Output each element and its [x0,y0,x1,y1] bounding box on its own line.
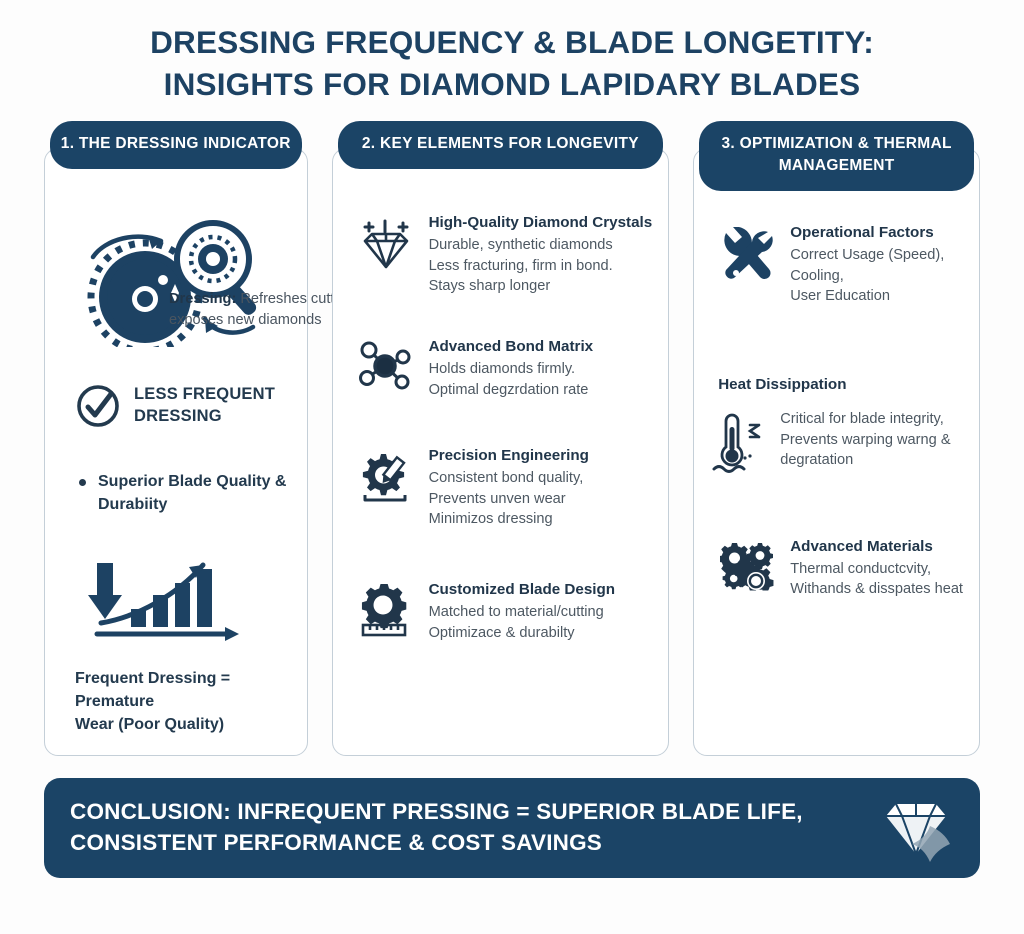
wear-chart-block [61,547,291,645]
thermometer-heat-icon [710,413,768,475]
item-icon-wrap [359,446,415,506]
item-line: Critical for blade integrity, [780,409,963,430]
item-body: Advanced Bond Matrix Holds diamonds firm… [429,337,653,400]
item-icon-wrap [710,409,766,475]
item-title: Heat Dissippation [718,375,963,395]
item-icon-wrap [359,213,415,271]
item-title: Operational Factors [790,223,963,243]
diamond-sparkle-icon [359,217,413,271]
item-line: Withands & disspates heat [790,579,963,600]
item-line: Durable, synthetic diamonds [429,235,653,256]
diamond-gem-icon [878,792,954,864]
columns-container: 1. THE DRESSING INDICATOR [0,115,1024,756]
conclusion-line-2: CONSISTENT PERFORMANCE & COST SAVINGS [70,830,602,855]
check-circle-icon [75,383,121,429]
item-line: Optimal degzrdation rate [429,380,653,401]
molecule-bond-icon [359,341,413,391]
list-item: Precision Engineering Consistent bond qu… [349,446,653,530]
conclusion-line-1: CONCLUSION: INFREQUENT PRESSING = SUPERI… [70,799,803,824]
column-2-card: High-Quality Diamond Crystals Durable, s… [332,148,670,756]
item-line: Thermal conductcvity, [790,559,963,580]
item-body: Advanced Materials Thermal conductcvity,… [790,537,963,600]
item-icon-wrap [359,337,415,391]
less-frequent-dressing-row: LESS FREQUENT DRESSING [61,383,291,429]
column-1: 1. THE DRESSING INDICATOR [44,121,308,756]
item-icon-wrap [359,580,415,640]
gears-cluster-icon [720,541,778,597]
item-line: Matched to material/cutting [429,602,653,623]
item-body: Precision Engineering Consistent bond qu… [429,446,653,530]
check-label-line2: DRESSING [134,407,222,425]
item-line: Holds diamonds firmly. [429,359,653,380]
item-title: Precision Engineering [429,446,653,466]
title-line-1: DRESSING FREQUENCY & BLADE LONGETITY: [60,22,964,64]
infographic-page: DRESSING FREQUENCY & BLADE LONGETITY: IN… [0,0,1024,934]
list-item: Customized Blade Design Matched to mater… [349,580,653,643]
footnote-line-2: Wear (Poor Quality) [75,716,224,733]
list-item: Heat Dissippation [710,375,963,475]
column-1-card: Dressing: Refreshes cutting exposes new … [44,148,308,756]
column-1-header: 1. THE DRESSING INDICATOR [50,121,302,169]
item-title: Customized Blade Design [429,580,653,600]
bullet-line-1: Superior Blade Quality & [98,473,286,490]
item-line: Stays sharp longer [429,276,653,297]
item-line: User Education [790,286,963,307]
heat-dissipation-body: Critical for blade integrity, Prevents w… [710,409,963,475]
column-3-header: 3. OPTIMIZATION & THERMAL MANAGEMENT [699,121,974,191]
superior-quality-bullet: Superior Blade Quality & Durabiity [61,471,291,516]
list-item: Advanced Bond Matrix Holds diamonds firm… [349,337,653,400]
item-body: Operational Factors Correct Usage (Speed… [790,223,963,307]
conclusion-gem-wrap [878,792,954,864]
item-line: Cooling, [790,266,963,287]
check-label-line1: LESS FREQUENT [134,385,275,403]
dressing-callout-line2: exposes new diamonds [169,312,322,328]
superior-quality-label: Superior Blade Quality & Durabiity [98,471,286,516]
item-icon-wrap [720,537,776,597]
column-3: 3. OPTIMIZATION & THERMAL MANAGEMENT [693,121,980,756]
list-item: Operational Factors Correct Usage (Speed… [710,223,963,307]
conclusion-banner: CONCLUSION: INFREQUENT PRESSING = SUPERI… [44,778,980,878]
bullet-dot-icon [79,479,86,486]
item-line: Prevents warping warng & [780,430,963,451]
item-title: Advanced Bond Matrix [429,337,653,357]
less-frequent-dressing-label: LESS FREQUENT DRESSING [134,384,275,428]
dressing-callout-bold: Dressing: [169,291,236,307]
column-2-header: 2. KEY ELEMENTS FOR LONGEVITY [338,121,664,169]
item-line: Correct Usage (Speed), [790,245,963,266]
list-item: Advanced Materials Thermal conductcvity,… [710,537,963,600]
item-body: Critical for blade integrity, Prevents w… [780,409,963,471]
item-line: degratation [780,450,963,471]
item-line: Prevents unven wear [429,489,653,510]
column-2: 2. KEY ELEMENTS FOR LONGEVITY [332,121,670,756]
item-line: Optimizace & durabilty [429,623,653,644]
title-line-2: INSIGHTS FOR DIAMOND LAPIDARY BLADES [60,64,964,106]
page-title: DRESSING FREQUENCY & BLADE LONGETITY: IN… [0,0,1024,115]
gear-ruler-icon [359,584,415,640]
gear-pencil-icon [359,450,415,506]
list-item: High-Quality Diamond Crystals Durable, s… [349,213,653,297]
item-line: Minimizos dressing [429,509,653,530]
item-line: Consistent bond quality, [429,468,653,489]
item-line: Less fracturing, firm in bond. [429,256,653,277]
wrench-screwdriver-icon [720,227,778,283]
growth-chart-down-arrow-icon [75,547,255,645]
item-title: Advanced Materials [790,537,963,557]
conclusion-text: CONCLUSION: INFREQUENT PRESSING = SUPERI… [70,796,803,858]
item-body: High-Quality Diamond Crystals Durable, s… [429,213,653,297]
item-icon-wrap [720,223,776,283]
column-3-card: Operational Factors Correct Usage (Speed… [693,148,980,756]
dressing-indicator-block: Dressing: Refreshes cutting exposes new … [61,215,291,347]
bullet-line-2: Durabiity [98,496,167,513]
footnote-line-1: Frequent Dressing = Premature [75,670,230,710]
item-body: Customized Blade Design Matched to mater… [429,580,653,643]
item-title: High-Quality Diamond Crystals [429,213,653,233]
frequent-dressing-footnote: Frequent Dressing = Premature Wear (Poor… [61,667,291,737]
